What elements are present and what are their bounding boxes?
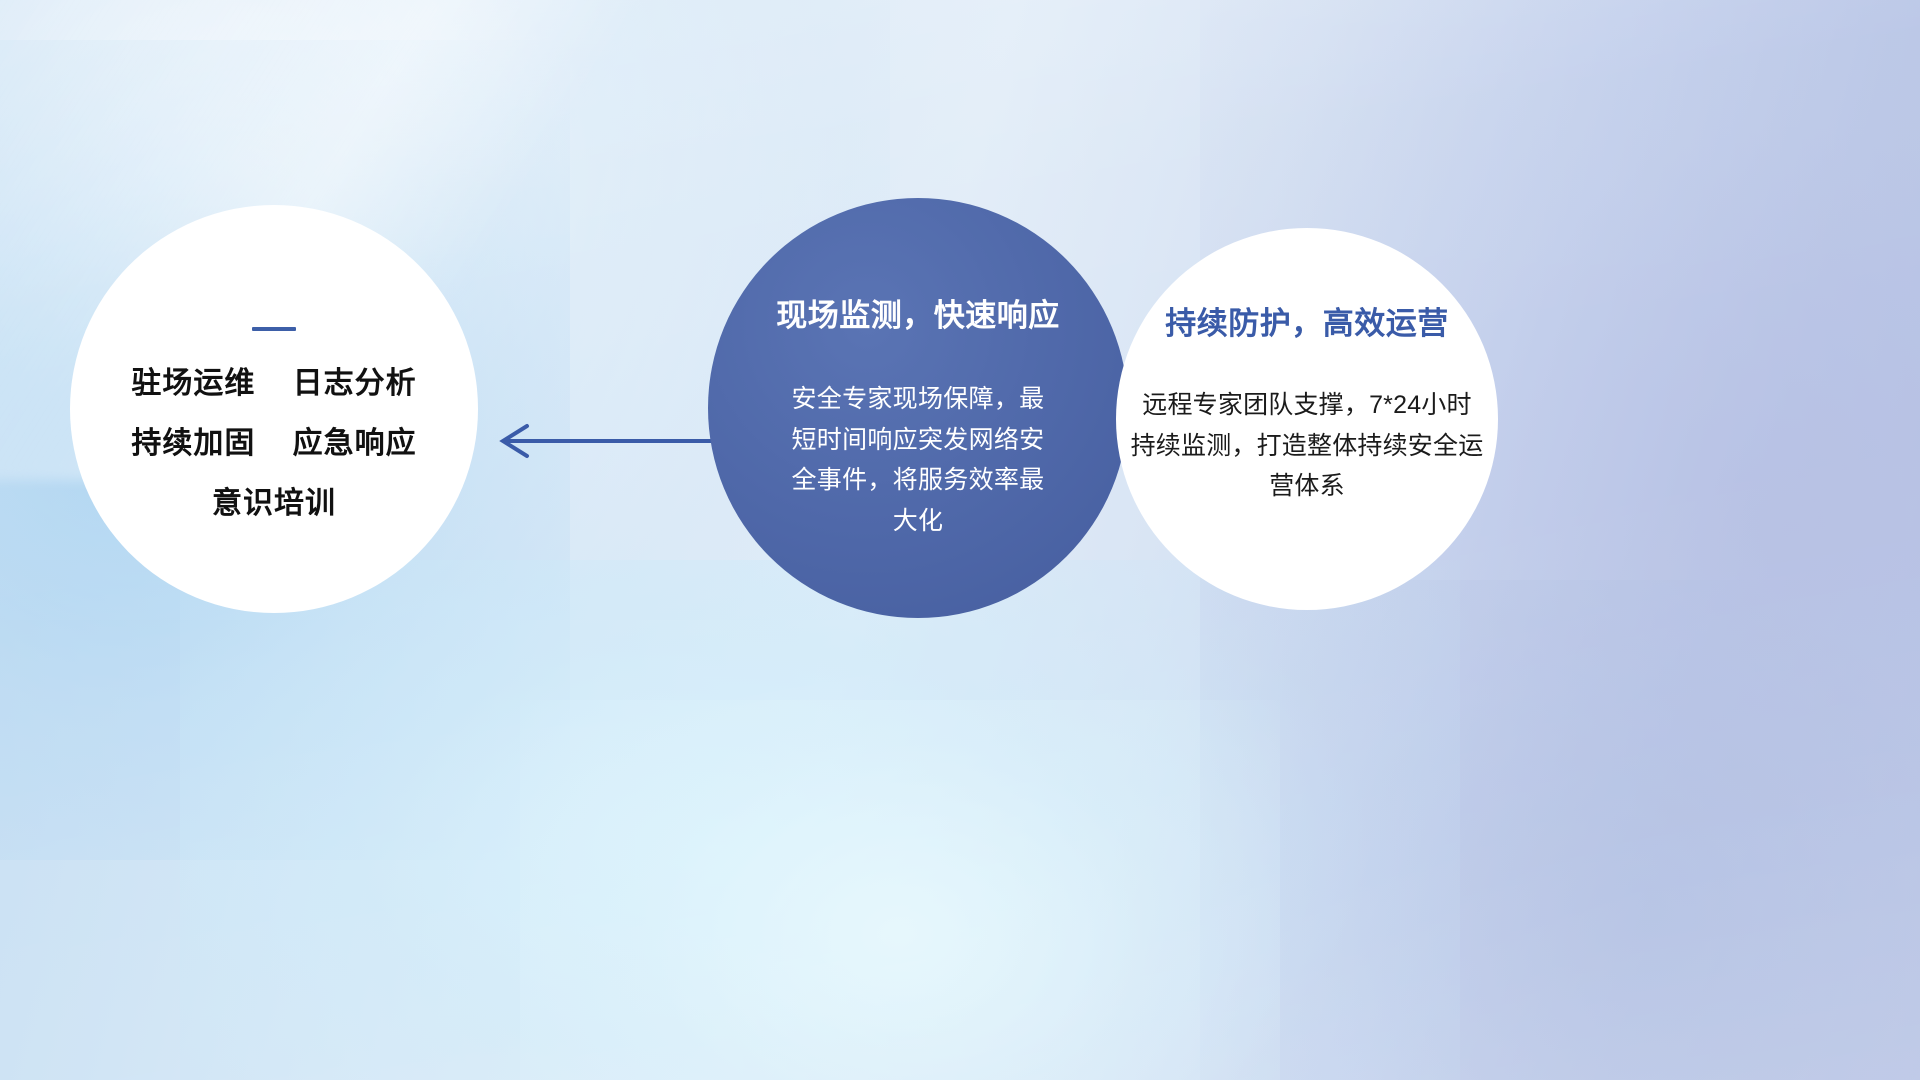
capability-tag-row-3: 意识培训 — [70, 489, 478, 519]
slide-canvas: 驻场运维 日志分析 持续加固 应急响应 意识培训 现场监测，快速响应 安全专家现… — [0, 0, 1920, 1080]
arrow-left-icon — [480, 415, 720, 467]
capability-tags-circle[interactable]: 驻场运维 日志分析 持续加固 应急响应 意识培训 — [70, 205, 478, 613]
capability-tag-row-1: 驻场运维 日志分析 — [70, 369, 478, 399]
onsite-monitoring-body: 安全专家现场保障，最短时间响应突发网络安全事件，将服务效率最大化 — [779, 379, 1057, 541]
continuous-protection-title: 持续防护，高效运营 — [1165, 298, 1449, 343]
continuous-protection-circle[interactable]: 持续防护，高效运营 远程专家团队支撑，7*24小时持续监测，打造整体持续安全运营… — [1116, 228, 1498, 610]
onsite-monitoring-title: 现场监测，快速响应 — [776, 290, 1060, 335]
connector-arrow — [480, 415, 720, 467]
continuous-protection-body: 远程专家团队支撑，7*24小时持续监测，打造整体持续安全运营体系 — [1130, 385, 1484, 507]
onsite-monitoring-circle[interactable]: 现场监测，快速响应 安全专家现场保障，最短时间响应突发网络安全事件，将服务效率最… — [708, 198, 1128, 618]
title-divider-dash — [252, 327, 296, 331]
capability-tag-list: 驻场运维 日志分析 持续加固 应急响应 意识培训 — [70, 369, 478, 519]
capability-tag-row-2: 持续加固 应急响应 — [70, 429, 478, 459]
